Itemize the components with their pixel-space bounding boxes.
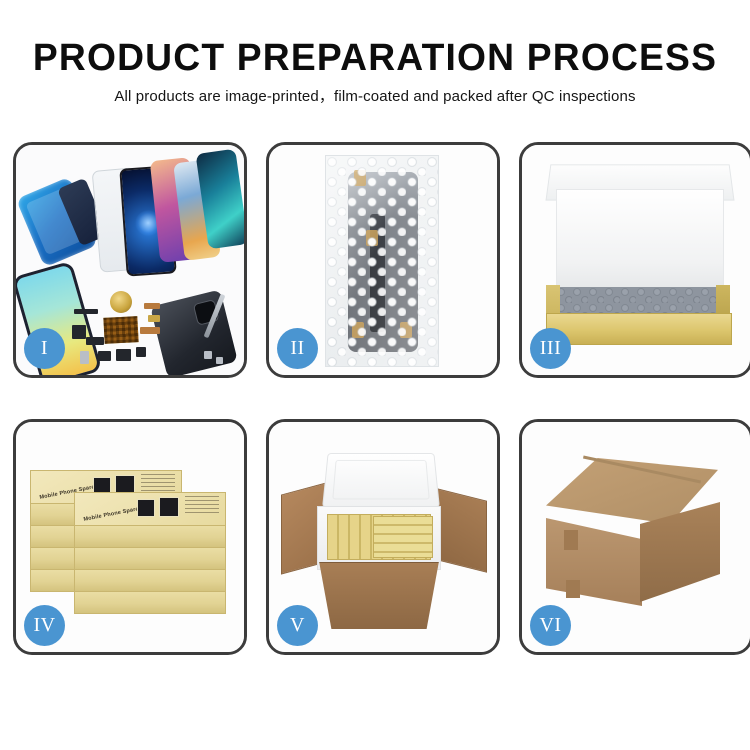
page-subtitle: All products are image-printed，film-coat… <box>0 87 750 107</box>
process-step-card-4[interactable]: Mobile Phone Spare Parts Mobile Phone Sp… <box>13 419 247 655</box>
carton-front-panel <box>311 562 447 629</box>
box-front-panel <box>546 313 732 345</box>
box-spec-lines <box>185 496 219 514</box>
small-part <box>140 327 160 334</box>
carton-tape-mark <box>564 530 578 550</box>
small-part <box>116 349 131 361</box>
process-step-card-2[interactable]: II <box>266 142 500 378</box>
process-step-card-5[interactable]: V <box>266 419 500 655</box>
small-part <box>144 303 160 309</box>
carton-tape-mark <box>566 580 580 598</box>
bubble-wrap-bag <box>325 155 439 367</box>
yellow-boxes-row <box>373 516 433 558</box>
step-badge-1: I <box>24 328 65 369</box>
logic-board-chip <box>103 316 138 344</box>
step-badge-3: III <box>530 328 571 369</box>
small-part <box>204 351 212 359</box>
small-part <box>148 315 160 322</box>
step-badge-5: V <box>277 605 318 646</box>
small-part <box>86 337 104 345</box>
grey-bubble-wrapped-items <box>556 287 718 315</box>
step-badge-6: VI <box>530 605 571 646</box>
process-step-grid: I II III <box>13 142 737 655</box>
box-window-phone <box>137 499 155 517</box>
stacked-box-top-right: Mobile Phone Spare Parts <box>74 492 226 526</box>
small-part <box>74 309 98 314</box>
small-part <box>136 347 146 357</box>
small-part <box>216 357 223 364</box>
step-badge-4: IV <box>24 605 65 646</box>
white-foam-sheet <box>556 189 724 295</box>
process-step-card-6[interactable]: VI <box>519 419 750 655</box>
box-spec-lines <box>141 474 175 492</box>
small-part <box>72 325 86 339</box>
step-badge-2: II <box>277 328 318 369</box>
carton-left-face <box>546 518 642 606</box>
process-step-card-1[interactable]: I <box>13 142 247 378</box>
small-part <box>80 351 89 364</box>
box-window-phone <box>159 497 179 517</box>
box-stack: Mobile Phone Spare Parts Mobile Phone Sp… <box>30 448 230 634</box>
page-title: PRODUCT PREPARATION PROCESS <box>8 38 743 78</box>
page-header: PRODUCT PREPARATION PROCESS All products… <box>0 0 750 107</box>
styrofoam-lid <box>322 453 440 508</box>
speaker-coil-part <box>110 291 132 313</box>
process-step-card-3[interactable]: III <box>519 142 750 378</box>
plastic-sheen <box>326 156 438 366</box>
phone-back-housing <box>150 289 238 378</box>
small-part <box>98 351 111 361</box>
